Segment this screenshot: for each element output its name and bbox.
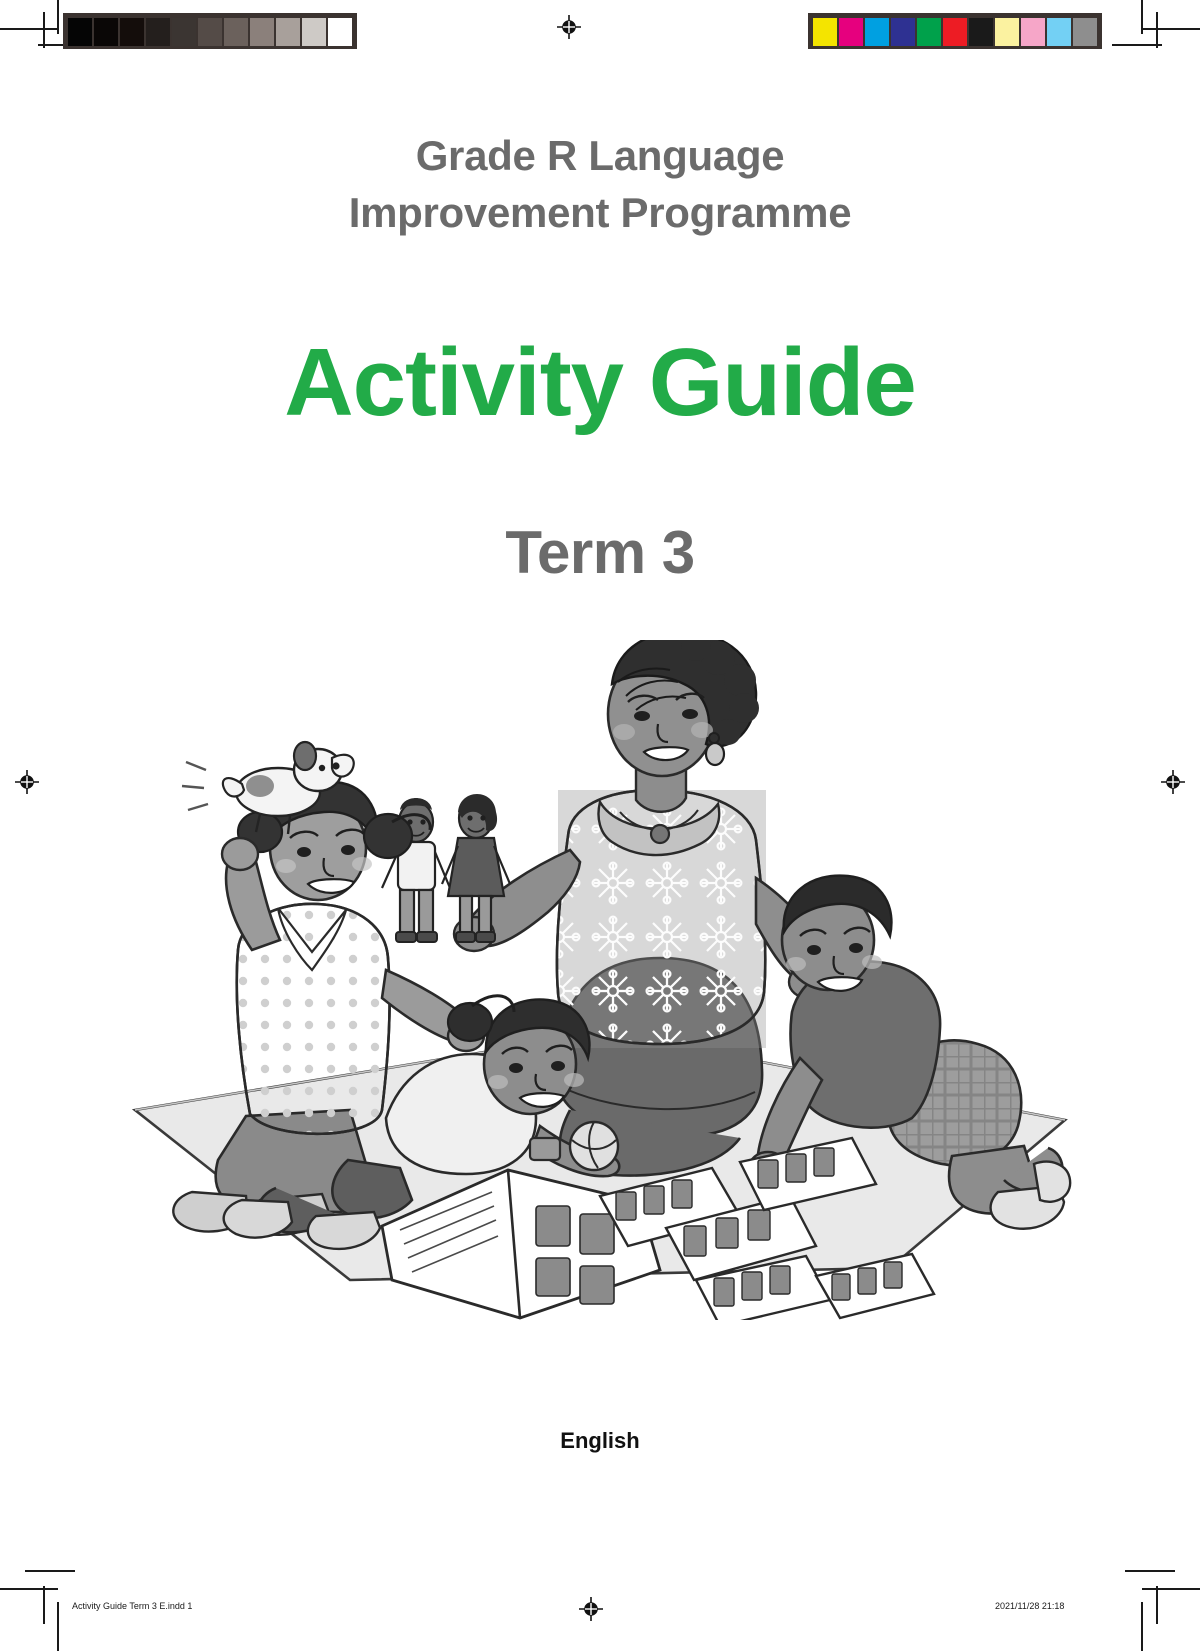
programme-title: Grade R Language Improvement Programme [0,128,1200,241]
programme-title-block: Grade R Language Improvement Programme [0,128,1200,241]
classroom-reading-illustration [100,640,1100,1320]
programme-title-line-1: Grade R Language [0,128,1200,185]
cover-page: Grade R Language Improvement Programme A… [0,0,1200,1651]
language-label: English [0,1428,1200,1454]
term-subtitle: Term 3 [0,518,1200,587]
page-title: Activity Guide [0,330,1200,436]
programme-title-line-2: Improvement Programme [0,185,1200,242]
print-slug-timestamp: 2021/11/28 21:18 [995,1601,1064,1611]
toy-ball [570,1122,618,1170]
toy-block [530,1138,560,1160]
print-slug-filename: Activity Guide Term 3 E.indd 1 [72,1601,192,1611]
